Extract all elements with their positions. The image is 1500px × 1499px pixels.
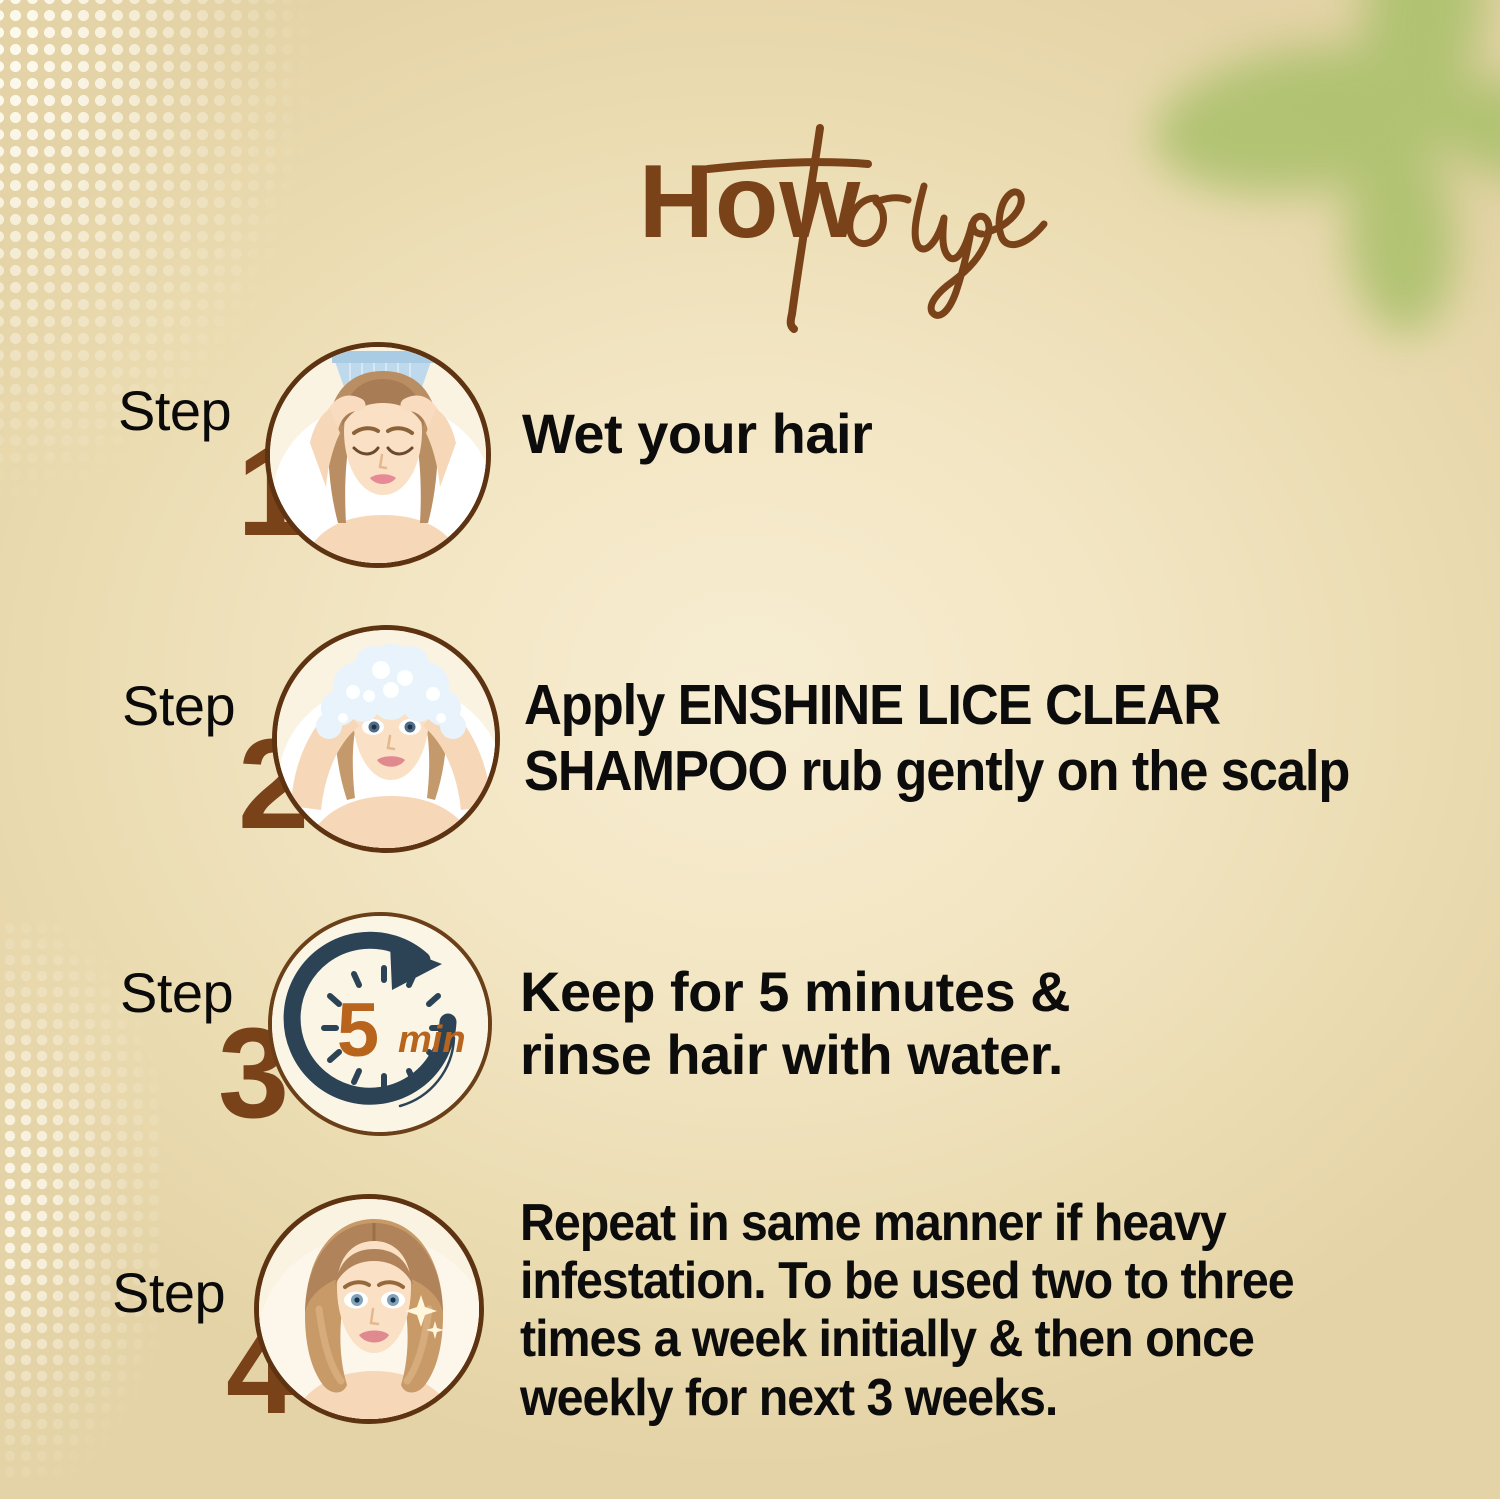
woman-clean-shiny-hair-icon [259,1199,484,1424]
step-1-image [265,342,491,568]
woman-shower-wetting-hair-icon [270,347,491,568]
step-2-image [272,625,500,853]
svg-text:5: 5 [337,988,379,1073]
step-3-label: Step [120,960,233,1025]
step-4-image [254,1194,484,1424]
step-2-text: Apply ENSHINE LICE CLEAR SHAMPOO rub gen… [524,673,1444,804]
five-minute-timer-icon: 5 min [272,916,492,1136]
step-4-label: Step [112,1260,225,1325]
step-2-label: Step [122,673,235,738]
step-3-text: Keep for 5 minutes & rinse hair with wat… [520,960,1420,1087]
step-3-image: 5 min [268,912,492,1136]
step-1-text: Wet your hair [522,402,1422,465]
page-title: How [0,150,1500,330]
svg-text:min: min [398,1019,466,1061]
page-title-script-to-use [700,124,1060,334]
step-1-label: Step [118,378,231,443]
woman-shampoo-foam-icon [277,630,500,853]
how-to-use-infographic: How Step 1 [0,0,1500,1499]
step-4-text: Repeat in same manner if heavy infestati… [520,1194,1450,1427]
